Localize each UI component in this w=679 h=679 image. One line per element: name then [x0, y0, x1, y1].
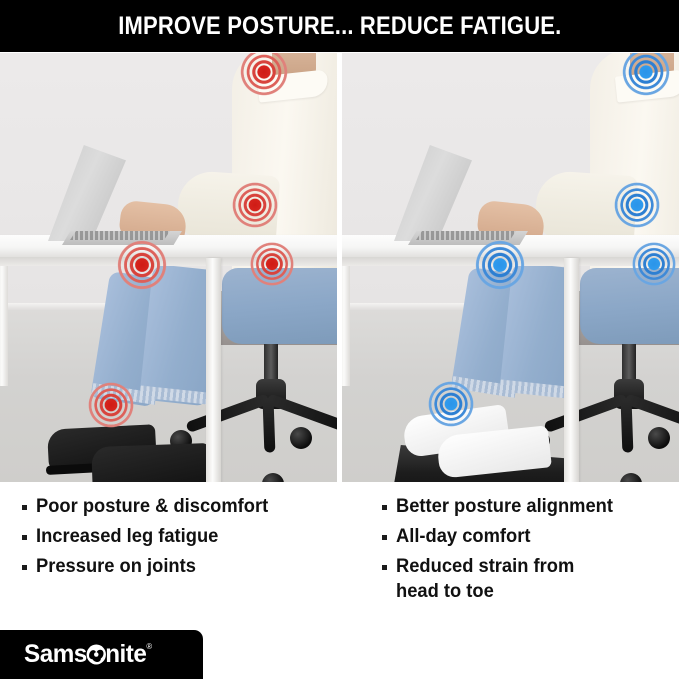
- registered-trademark-icon: ®: [146, 642, 151, 651]
- list-item: Increased leg fatigue: [22, 524, 339, 549]
- bullet-square-icon: [382, 505, 387, 510]
- header-banner: IMPROVE POSTURE... REDUCE FATIGUE.: [0, 0, 679, 52]
- benefits-list-with-footrest: Better posture alignment All-day comfort…: [340, 486, 679, 626]
- pain-indicator-lower-back: [230, 180, 280, 230]
- list-item: Poor posture & discomfort: [22, 494, 339, 519]
- page-title: IMPROVE POSTURE... REDUCE FATIGUE.: [118, 12, 561, 41]
- bullet-list: Poor posture & discomfort Increased leg …: [0, 486, 339, 579]
- list-item-label: Poor posture & discomfort: [36, 494, 268, 519]
- brand-name-before: Sams: [24, 640, 87, 668]
- bullet-list: Better posture alignment All-day comfort…: [340, 486, 679, 604]
- list-item: Reduced strain from head to toe: [382, 554, 679, 604]
- brand-name-after: nite: [105, 640, 146, 668]
- chair-spoke: [621, 398, 634, 452]
- samsonite-swirl-icon: [86, 643, 106, 664]
- desk-leg: [564, 258, 579, 482]
- list-item: All-day comfort: [382, 524, 679, 549]
- list-item-label: All-day comfort: [396, 524, 530, 549]
- list-item-label: Reduced strain from head to toe: [396, 554, 574, 604]
- bullet-square-icon: [22, 535, 27, 540]
- list-item-label: Better posture alignment: [396, 494, 613, 519]
- desk-leg: [206, 258, 221, 482]
- comfort-indicator-knee: [473, 238, 527, 292]
- panel-without-footrest: [0, 53, 337, 482]
- pain-indicator-knee: [115, 238, 169, 292]
- comfort-indicator-hip: [630, 240, 678, 288]
- bullet-square-icon: [382, 565, 387, 570]
- chair-caster: [290, 427, 312, 449]
- brand-wordmark: Sams nite®: [24, 640, 146, 669]
- list-item-label: Increased leg fatigue: [36, 524, 218, 549]
- shoe: [91, 443, 211, 482]
- pain-indicator-ankle: [86, 380, 136, 430]
- desk-leg: [0, 266, 8, 386]
- product-infographic: IMPROVE POSTURE... REDUCE FATIGUE.: [0, 0, 679, 679]
- list-item: Better posture alignment: [382, 494, 679, 519]
- pain-indicator-hip: [248, 240, 296, 288]
- laptop-keyboard: [70, 231, 170, 240]
- comparison-panels: Samsonite: [0, 53, 679, 482]
- chair-spoke: [263, 398, 276, 452]
- desk-leg: [342, 266, 350, 386]
- bullet-square-icon: [22, 565, 27, 570]
- comfort-indicator-lower-back: [612, 180, 662, 230]
- benefits-list-without-footrest: Poor posture & discomfort Increased leg …: [0, 486, 339, 626]
- list-item: Pressure on joints: [22, 554, 339, 579]
- panel-with-footrest: Samsonite: [342, 53, 679, 482]
- bullet-square-icon: [382, 535, 387, 540]
- chair-caster: [648, 427, 670, 449]
- brand-logo: Sams nite®: [0, 630, 203, 679]
- comfort-indicator-ankle: [426, 379, 476, 429]
- bullet-square-icon: [22, 505, 27, 510]
- list-item-label: Pressure on joints: [36, 554, 196, 579]
